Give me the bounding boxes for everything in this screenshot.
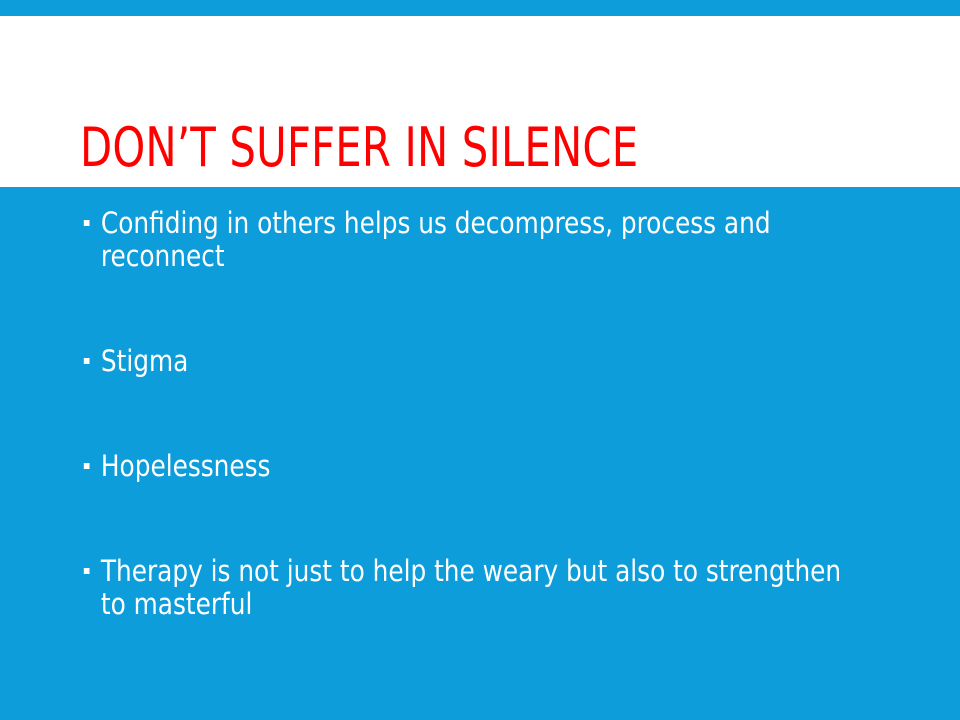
square-bullet-icon [84, 463, 90, 469]
list-item-label: Hopelessness [101, 450, 869, 483]
top-accent-bar [0, 0, 960, 16]
square-bullet-icon [84, 568, 90, 574]
list-item-label: Therapy is not just to help the weary bu… [101, 555, 869, 621]
presentation-slide: DON’T SUFFER IN SILENCE Confiding in oth… [0, 0, 960, 720]
list-item: Therapy is not just to help the weary bu… [80, 555, 869, 621]
title-band: DON’T SUFFER IN SILENCE [0, 16, 960, 187]
list-item-label: Confiding in others helps us decompress,… [101, 207, 869, 273]
list-item: Confiding in others helps us decompress,… [80, 207, 869, 273]
bullet-list: Confiding in others helps us decompress,… [80, 207, 910, 621]
square-bullet-icon [84, 220, 90, 226]
slide-body: Confiding in others helps us decompress,… [0, 187, 960, 720]
square-bullet-icon [84, 358, 90, 364]
list-item: Stigma [80, 345, 869, 378]
list-item-label: Stigma [101, 345, 869, 378]
slide-title: DON’T SUFFER IN SILENCE [80, 118, 802, 178]
list-item: Hopelessness [80, 450, 869, 483]
